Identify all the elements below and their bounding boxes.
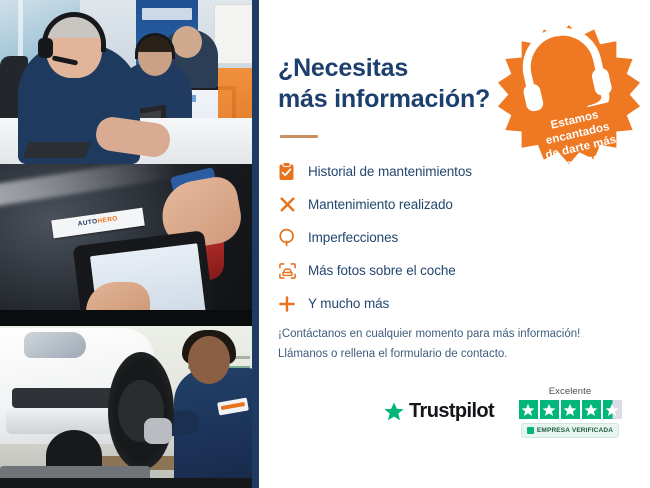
feature-label: Historial de mantenimientos: [308, 164, 472, 179]
feature-label: Mantenimiento realizado: [308, 197, 453, 212]
feature-label: Y mucho más: [308, 296, 389, 311]
promo-banner: AUTOHERO: [0, 0, 650, 488]
star-1: [519, 400, 538, 419]
title-line-2: más información?: [278, 84, 528, 115]
feature-label: Más fotos sobre el coche: [308, 263, 456, 278]
ruler-brand-auto: AUTO: [77, 218, 98, 228]
star-5-half: [603, 400, 622, 419]
title-line-1: ¿Necesitas: [278, 53, 528, 84]
trustpilot-block[interactable]: Trustpilot Excelente EMPRESA VERIFICADA: [383, 386, 643, 452]
feature-item-imperfections[interactable]: Imperfecciones: [278, 221, 608, 254]
clipboard-check-icon: [278, 161, 308, 183]
feature-item-much-more[interactable]: Y mucho más: [278, 287, 608, 320]
trustpilot-wordmark: Trustpilot: [409, 400, 494, 423]
car-inspection-ruler-photo: AUTOHERO: [0, 164, 258, 326]
verified-badge: EMPRESA VERIFICADA: [521, 423, 619, 438]
title-underline: [280, 135, 318, 138]
verified-label: EMPRESA VERIFICADA: [537, 427, 613, 434]
content-panel: ¿Necesitas más información? Estamos enca…: [259, 0, 650, 488]
photo-column: AUTOHERO: [0, 0, 258, 488]
feature-item-more-photos[interactable]: Más fotos sobre el coche: [278, 254, 608, 287]
mechanic-wheel-photo: [0, 326, 258, 488]
trustpilot-logo[interactable]: Trustpilot: [383, 400, 494, 423]
trustpilot-rating: Excelente EMPRESA VERIFICADA: [497, 386, 643, 438]
rating-label: Excelente: [497, 386, 643, 397]
feature-label: Imperfecciones: [308, 230, 398, 245]
plus-icon: [278, 293, 308, 315]
contact-paragraph: ¡Contáctanos en cualquier momento para m…: [278, 325, 633, 365]
paragraph-line-2: Llámanos o rellena el formulario de cont…: [278, 345, 633, 365]
page-title: ¿Necesitas más información?: [278, 53, 528, 114]
star-4: [582, 400, 601, 419]
star-rating: [497, 400, 643, 419]
feature-list: Historial de mantenimientos Mantenimient…: [278, 155, 608, 320]
promo-badge: Estamos encantados de darte más informac…: [495, 22, 643, 170]
wrench-screwdriver-icon: [278, 194, 308, 216]
column-divider: [252, 0, 259, 488]
check-square-icon: [527, 427, 534, 434]
feature-item-maintenance-history[interactable]: Historial de mantenimientos: [278, 155, 608, 188]
feature-item-maintenance-done[interactable]: Mantenimiento realizado: [278, 188, 608, 221]
paragraph-line-1: ¡Contáctanos en cualquier momento para m…: [278, 325, 633, 345]
star-3: [561, 400, 580, 419]
magnifier-icon: [278, 227, 308, 249]
ruler-brand-hero: HERO: [97, 215, 118, 225]
car-scan-icon: [278, 260, 308, 282]
call-center-agents-photo: [0, 0, 258, 164]
trustpilot-star-icon: [383, 401, 405, 422]
star-2: [540, 400, 559, 419]
